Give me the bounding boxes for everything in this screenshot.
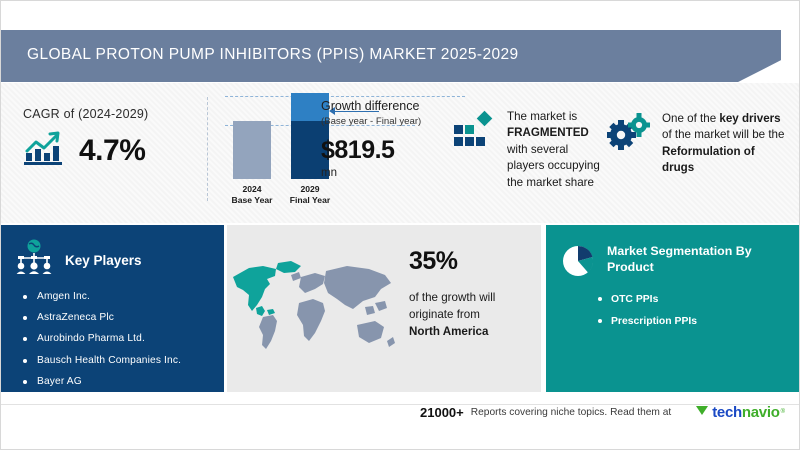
key-players-header: Key Players	[1, 225, 224, 282]
region-stat-block: 35% of the growth will originate from No…	[409, 247, 537, 340]
logo-text-navio: navio	[742, 404, 780, 421]
bar-base-year	[233, 121, 271, 179]
region-name: North America	[409, 325, 488, 338]
drv-bold2-line1: Reformulation of	[662, 145, 755, 158]
infographic-canvas: GLOBAL PROTON PUMP INHIBITORS (PPIS) MAR…	[0, 0, 800, 450]
region-percent: 35%	[409, 247, 537, 276]
technavio-logo[interactable]: technavio®	[695, 402, 785, 422]
world-map	[229, 253, 404, 358]
logo-text-tech: tech	[712, 404, 742, 421]
logo-arrow-icon	[695, 402, 712, 422]
cagr-block: CAGR of (2024-2029) 4.7%	[23, 107, 213, 172]
fragmented-squares-icon	[453, 109, 495, 158]
growth-callout-title: Growth difference	[321, 99, 451, 115]
region-north-america	[233, 261, 301, 316]
region-desc-line1: of the growth will	[409, 291, 495, 304]
key-players-panel: Key Players Amgen Inc. AstraZeneca Plc A…	[1, 225, 224, 392]
list-item: OTC PPIs	[598, 295, 799, 305]
growth-difference-block: Growth difference (Base year - Final yea…	[321, 99, 451, 179]
drv-line2: of the market will be the	[662, 128, 784, 141]
gears-icon	[607, 111, 651, 156]
bar-label-final: 2029 Final Year	[283, 184, 337, 207]
segmentation-list: OTC PPIs Prescription PPIs	[546, 295, 799, 328]
footer: 21000+ Reports covering niche topics. Re…	[1, 397, 799, 427]
list-item: Bayer AG	[23, 377, 224, 387]
frag-line1: The market is	[507, 110, 577, 123]
header-banner: GLOBAL PROTON PUMP INHIBITORS (PPIS) MAR…	[1, 30, 781, 82]
segmentation-panel: Market Segmentation By Product OTC PPIs …	[546, 225, 799, 392]
frag-line3: players occupying	[507, 159, 600, 172]
footer-text: Reports covering niche topics. Read them…	[471, 407, 671, 418]
drv-bold2-line2: drugs	[662, 161, 694, 174]
list-item: Amgen Inc.	[23, 292, 224, 302]
growth-callout-subtitle: (Base year - Final year)	[321, 116, 451, 127]
list-item: Bausch Health Companies Inc.	[23, 356, 224, 366]
report-count: 21000+	[420, 405, 464, 420]
region-south-america	[259, 315, 277, 349]
bar-chart-growth-icon	[23, 129, 67, 172]
frag-bold: FRAGMENTED	[507, 126, 589, 139]
list-item: Prescription PPIs	[598, 317, 799, 327]
drv-line1-bold: key drivers	[719, 112, 780, 125]
pie-chart-icon	[560, 243, 596, 284]
page-title: GLOBAL PROTON PUMP INHIBITORS (PPIS) MAR…	[27, 46, 519, 64]
drv-line1-pre: One of the	[662, 112, 719, 125]
cagr-label: CAGR of (2024-2029)	[23, 107, 213, 121]
key-players-list: Amgen Inc. AstraZeneca Plc Aurobindo Pha…	[1, 292, 224, 387]
frag-line4: the market share	[507, 176, 594, 189]
region-desc-line2: originate from	[409, 308, 480, 321]
key-players-title: Key Players	[65, 253, 142, 268]
cagr-value: 4.7%	[79, 134, 145, 168]
growth-value: $819.5	[321, 136, 451, 165]
divider-left	[207, 97, 208, 201]
region-description: of the growth will originate from North …	[409, 290, 537, 340]
region-europe	[291, 272, 325, 293]
segmentation-title: Market Segmentation By Product	[607, 243, 757, 275]
org-network-globe-icon	[13, 239, 55, 282]
segmentation-header: Market Segmentation By Product	[546, 225, 799, 284]
logo-trademark: ®	[781, 409, 785, 415]
growth-unit: mn	[321, 167, 451, 179]
list-item: Aurobindo Pharma Ltd.	[23, 334, 224, 344]
bar-label-base: 2024 Base Year	[225, 184, 279, 207]
region-africa	[297, 299, 325, 341]
region-asia	[324, 266, 391, 315]
frag-line2: with several	[507, 143, 568, 156]
key-drivers-block: One of the key drivers of the market wil…	[607, 111, 800, 177]
chart-guideline-top	[225, 96, 465, 97]
key-drivers-text: One of the key drivers of the market wil…	[662, 111, 800, 177]
fragmentation-block: The market is FRAGMENTED with several pl…	[453, 109, 633, 191]
region-panel: 35% of the growth will originate from No…	[227, 225, 541, 392]
region-australia	[357, 321, 395, 347]
middle-row: Key Players Amgen Inc. AstraZeneca Plc A…	[1, 225, 799, 392]
list-item: AstraZeneca Plc	[23, 313, 224, 323]
